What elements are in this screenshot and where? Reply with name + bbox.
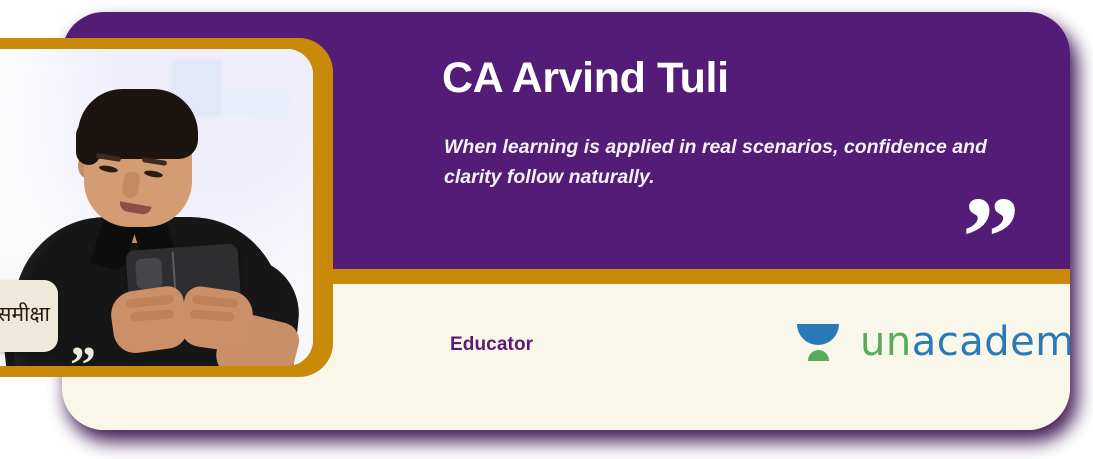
testimonial-quote-text: When learning is applied in real scenari… xyxy=(444,133,1004,192)
unacademy-wordmark: unacademy xyxy=(860,319,1070,365)
hindi-caption-badge: “ ायी समीक्षा ” xyxy=(0,280,58,352)
wordmark-un: un xyxy=(860,319,912,365)
unacademy-brand-lockup: unacademy xyxy=(794,318,1070,366)
logo-bowl-shape xyxy=(797,324,839,345)
page-title: CA Arvind Tuli xyxy=(442,54,729,103)
role-label: Educator xyxy=(450,334,533,356)
badge-close-quote-icon: ” xyxy=(70,340,96,366)
testimonial-card-stage: CA Arvind Tuli When learning is applied … xyxy=(0,0,1093,459)
hindi-caption-text: ायी समीक्षा xyxy=(0,300,50,328)
educator-photo: “ ायी समीक्षा ” xyxy=(0,49,313,366)
educator-photo-frame: “ ायी समीक्षा ” xyxy=(0,38,333,377)
quotation-mark-icon: ” xyxy=(962,180,1020,296)
logo-base-shape xyxy=(808,350,829,361)
wordmark-academy: academy xyxy=(912,319,1070,365)
unacademy-bowl-logo-icon xyxy=(794,318,842,366)
